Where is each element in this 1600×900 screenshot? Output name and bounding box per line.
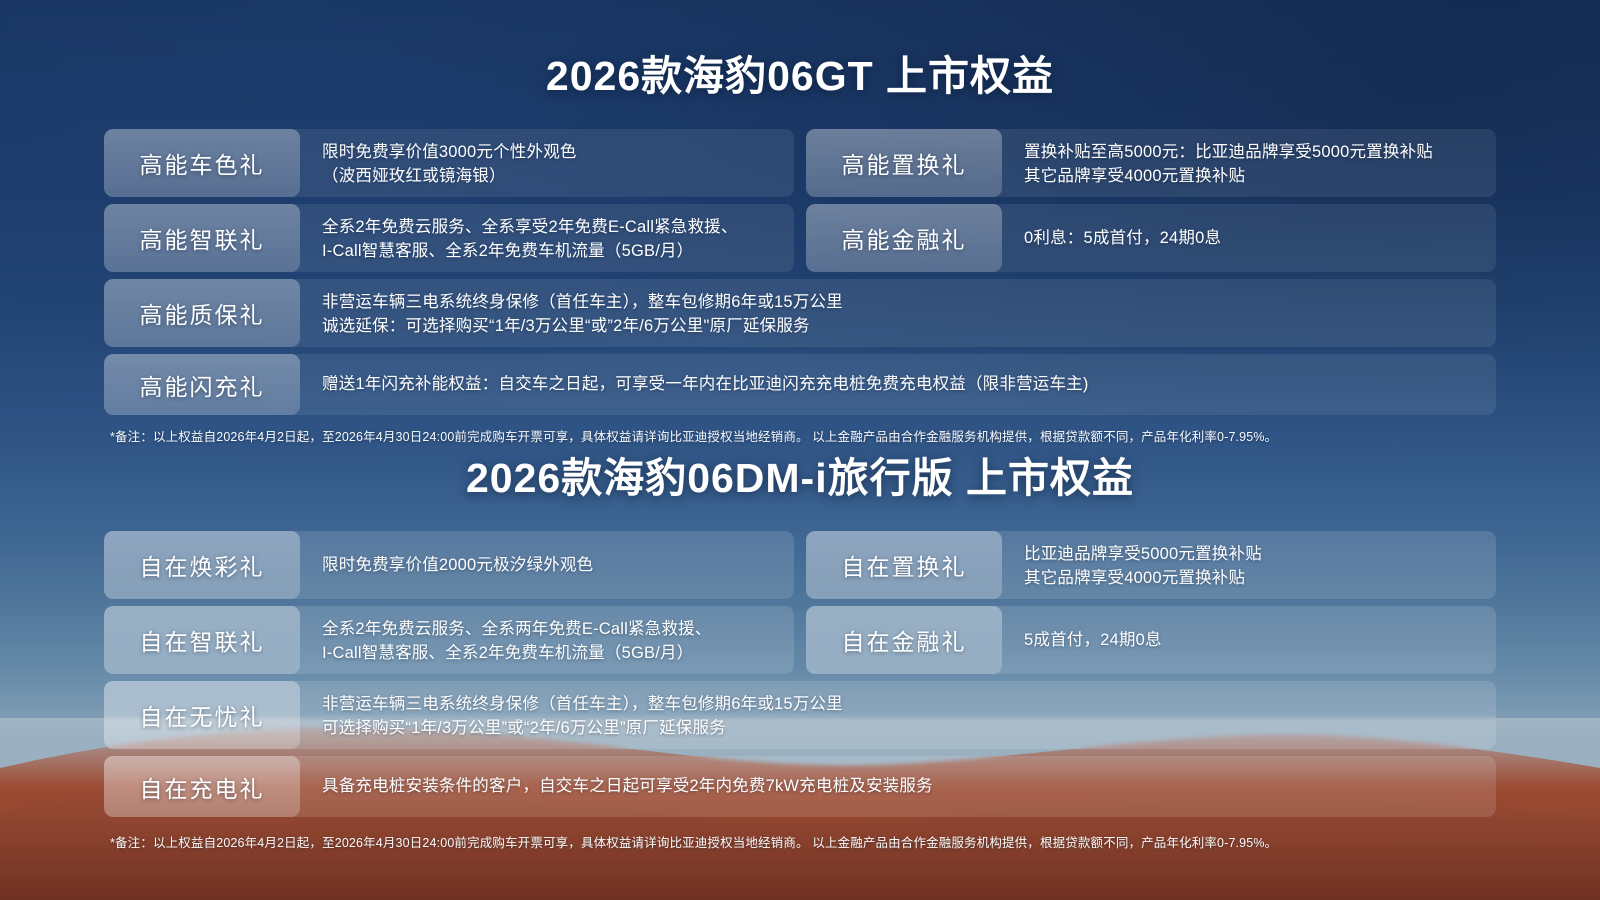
benefit-body: 限时免费享价值3000元个性外观色 （波西娅玫红或镜海银） xyxy=(300,129,794,197)
benefit-chip-label: 自在无忧礼 xyxy=(104,681,300,749)
footnote-1: *备注：以上权益自2026年4月2日起，至2026年4月30日24:00前完成购… xyxy=(0,429,1600,445)
benefit-body: 5成首付，24期0息 xyxy=(1002,606,1496,674)
benefit-card-warranty[interactable]: 自在无忧礼 非营运车辆三电系统终身保修（首任车主），整车包修期6年或15万公里 … xyxy=(104,681,1496,749)
page-title-2: 2026款海豹06DM-i旅行版 上市权益 xyxy=(0,456,1600,501)
footnote-2: *备注：以上权益自2026年4月2日起，至2026年4月30日24:00前完成购… xyxy=(0,835,1600,851)
benefit-card-fast-charging[interactable]: 高能闪充礼 赠送1年闪充补能权益：自交车之日起，可享受一年内在比亚迪闪充充电桩免… xyxy=(104,354,1496,415)
benefit-row: 高能智联礼 全系2年免费云服务、全系享受2年免费E-Call紧急救援、 I-Ca… xyxy=(104,204,1496,272)
benefit-text-line: 置换补贴至高5000元：比亚迪品牌享受5000元置换补贴 xyxy=(1024,139,1480,163)
benefit-card-connectivity[interactable]: 自在智联礼 全系2年免费云服务、全系两年免费E-Call紧急救援、 I-Call… xyxy=(104,606,794,674)
benefit-chip-label: 高能质保礼 xyxy=(104,279,300,347)
benefit-text-line: 限时免费享价值3000元个性外观色 xyxy=(322,139,778,163)
benefit-text-line: 0利息：5成首付，24期0息 xyxy=(1024,225,1480,252)
benefit-rows-1: 高能车色礼 限时免费享价值3000元个性外观色 （波西娅玫红或镜海银） 高能置换… xyxy=(0,129,1600,415)
benefit-chip-label: 自在置换礼 xyxy=(806,531,1002,599)
benefit-text-line: 非营运车辆三电系统终身保修（首任车主），整车包修期6年或15万公里 xyxy=(322,691,1480,715)
benefit-rows-2: 自在焕彩礼 限时免费享价值2000元极汐绿外观色 自在置换礼 比亚迪品牌享受50… xyxy=(0,531,1600,817)
benefit-chip-label: 自在焕彩礼 xyxy=(104,531,300,599)
benefit-body: 具备充电桩安装条件的客户，自交车之日起可享受2年内免费7kW充电桩及安装服务 xyxy=(300,756,1496,817)
benefit-body: 非营运车辆三电系统终身保修（首任车主），整车包修期6年或15万公里 诚选延保：可… xyxy=(300,279,1496,347)
benefit-body: 比亚迪品牌享受5000元置换补贴 其它品牌享受4000元置换补贴 xyxy=(1002,531,1496,599)
benefit-text-line: 其它品牌享受4000元置换补贴 xyxy=(1024,565,1480,589)
benefit-card-connectivity[interactable]: 高能智联礼 全系2年免费云服务、全系享受2年免费E-Call紧急救援、 I-Ca… xyxy=(104,204,794,272)
benefit-row: 高能车色礼 限时免费享价值3000元个性外观色 （波西娅玫红或镜海银） 高能置换… xyxy=(104,129,1496,197)
benefit-chip-label: 高能闪充礼 xyxy=(104,354,300,415)
benefit-row: 自在充电礼 具备充电桩安装条件的客户，自交车之日起可享受2年内免费7kW充电桩及… xyxy=(104,756,1496,817)
section-seal06dmi-wagon: 2026款海豹06DM-i旅行版 上市权益 自在焕彩礼 限时免费享价值2000元… xyxy=(0,456,1600,851)
page-title-1: 2026款海豹06GT 上市权益 xyxy=(0,54,1600,99)
benefit-chip-label: 自在金融礼 xyxy=(806,606,1002,674)
benefit-body: 限时免费享价值2000元极汐绿外观色 xyxy=(300,531,794,599)
benefit-body: 全系2年免费云服务、全系两年免费E-Call紧急救援、 I-Call智慧客服、全… xyxy=(300,606,794,674)
benefit-text-line: （波西娅玫红或镜海银） xyxy=(322,163,778,187)
benefit-body: 置换补贴至高5000元：比亚迪品牌享受5000元置换补贴 其它品牌享受4000元… xyxy=(1002,129,1496,197)
benefit-card-finance[interactable]: 高能金融礼 0利息：5成首付，24期0息 xyxy=(806,204,1496,272)
benefit-text-line: 具备充电桩安装条件的客户，自交车之日起可享受2年内免费7kW充电桩及安装服务 xyxy=(322,773,1480,800)
benefit-body: 非营运车辆三电系统终身保修（首任车主），整车包修期6年或15万公里 可选择购买“… xyxy=(300,681,1496,749)
benefit-row: 高能闪充礼 赠送1年闪充补能权益：自交车之日起，可享受一年内在比亚迪闪充充电桩免… xyxy=(104,354,1496,415)
benefit-card-home-charger[interactable]: 自在充电礼 具备充电桩安装条件的客户，自交车之日起可享受2年内免费7kW充电桩及… xyxy=(104,756,1496,817)
benefit-card-finance[interactable]: 自在金融礼 5成首付，24期0息 xyxy=(806,606,1496,674)
benefit-text-line: 赠送1年闪充补能权益：自交车之日起，可享受一年内在比亚迪闪充充电桩免费充电权益（… xyxy=(322,371,1480,398)
benefit-card-color[interactable]: 自在焕彩礼 限时免费享价值2000元极汐绿外观色 xyxy=(104,531,794,599)
benefit-row: 自在焕彩礼 限时免费享价值2000元极汐绿外观色 自在置换礼 比亚迪品牌享受50… xyxy=(104,531,1496,599)
benefit-chip-label: 自在充电礼 xyxy=(104,756,300,817)
benefit-body: 0利息：5成首付，24期0息 xyxy=(1002,204,1496,272)
benefit-text-line: 全系2年免费云服务、全系享受2年免费E-Call紧急救援、 xyxy=(322,214,778,238)
benefit-chip-label: 高能金融礼 xyxy=(806,204,1002,272)
section-seal06gt: 2026款海豹06GT 上市权益 高能车色礼 限时免费享价值3000元个性外观色… xyxy=(0,54,1600,445)
benefit-text-line: 非营运车辆三电系统终身保修（首任车主），整车包修期6年或15万公里 xyxy=(322,289,1480,313)
benefit-chip-label: 高能车色礼 xyxy=(104,129,300,197)
benefit-chip-label: 自在智联礼 xyxy=(104,606,300,674)
benefit-card-warranty[interactable]: 高能质保礼 非营运车辆三电系统终身保修（首任车主），整车包修期6年或15万公里 … xyxy=(104,279,1496,347)
benefit-row: 高能质保礼 非营运车辆三电系统终身保修（首任车主），整车包修期6年或15万公里 … xyxy=(104,279,1496,347)
benefit-text-line: 可选择购买“1年/3万公里”或“2年/6万公里”原厂延保服务 xyxy=(322,715,1480,739)
benefit-body: 全系2年免费云服务、全系享受2年免费E-Call紧急救援、 I-Call智慧客服… xyxy=(300,204,794,272)
benefit-row: 自在智联礼 全系2年免费云服务、全系两年免费E-Call紧急救援、 I-Call… xyxy=(104,606,1496,674)
benefit-card-trade-in[interactable]: 自在置换礼 比亚迪品牌享受5000元置换补贴 其它品牌享受4000元置换补贴 xyxy=(806,531,1496,599)
benefit-text-line: 诚选延保：可选择购买“1年/3万公里“或”2年/6万公里"原厂延保服务 xyxy=(322,313,1480,337)
benefit-body: 赠送1年闪充补能权益：自交车之日起，可享受一年内在比亚迪闪充充电桩免费充电权益（… xyxy=(300,354,1496,415)
poster-content: 2026款海豹06GT 上市权益 高能车色礼 限时免费享价值3000元个性外观色… xyxy=(0,0,1600,900)
benefit-text-line: 比亚迪品牌享受5000元置换补贴 xyxy=(1024,541,1480,565)
benefit-row: 自在无忧礼 非营运车辆三电系统终身保修（首任车主），整车包修期6年或15万公里 … xyxy=(104,681,1496,749)
benefit-text-line: 5成首付，24期0息 xyxy=(1024,627,1480,654)
benefit-text-line: 限时免费享价值2000元极汐绿外观色 xyxy=(322,552,778,579)
benefit-text-line: I-Call智慧客服、全系2年免费车机流量（5GB/月） xyxy=(322,238,778,262)
benefit-card-car-color[interactable]: 高能车色礼 限时免费享价值3000元个性外观色 （波西娅玫红或镜海银） xyxy=(104,129,794,197)
benefit-chip-label: 高能置换礼 xyxy=(806,129,1002,197)
benefit-chip-label: 高能智联礼 xyxy=(104,204,300,272)
poster-root: 2026款海豹06GT 上市权益 高能车色礼 限时免费享价值3000元个性外观色… xyxy=(0,0,1600,900)
benefit-text-line: 全系2年免费云服务、全系两年免费E-Call紧急救援、 xyxy=(322,616,778,640)
benefit-card-trade-in[interactable]: 高能置换礼 置换补贴至高5000元：比亚迪品牌享受5000元置换补贴 其它品牌享… xyxy=(806,129,1496,197)
benefit-text-line: 其它品牌享受4000元置换补贴 xyxy=(1024,163,1480,187)
benefit-text-line: I-Call智慧客服、全系2年免费车机流量（5GB/月） xyxy=(322,640,778,664)
